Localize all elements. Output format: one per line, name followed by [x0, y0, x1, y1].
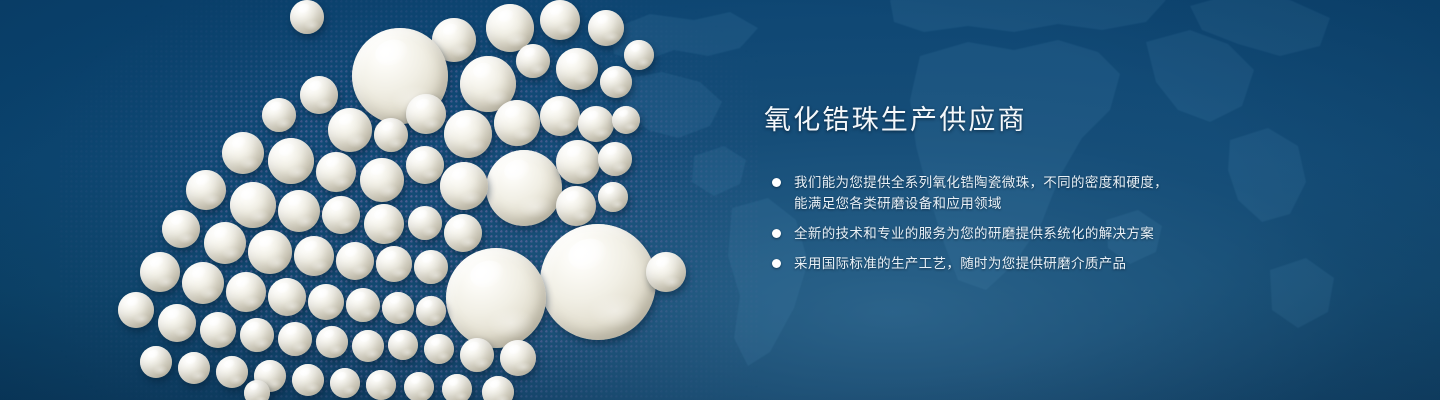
feature-bullet-list: 我们能为您提供全系列氧化锆陶瓷微珠，不同的密度和硬度， 能满足您各类研磨设备和应… — [764, 172, 1234, 274]
zirconia-bead-cluster-image — [0, 0, 720, 400]
list-item: 采用国际标准的生产工艺，随时为您提供研磨介质产品 — [764, 253, 1234, 274]
list-item: 全新的技术和专业的服务为您的研磨提供系统化的解决方案 — [764, 223, 1234, 244]
page-title: 氧化锆珠生产供应商 — [764, 104, 1234, 138]
bullet-text-line: 能满足您各类研磨设备和应用领域 — [794, 193, 1234, 214]
bullet-text-line: 我们能为您提供全系列氧化锆陶瓷微珠，不同的密度和硬度， — [794, 172, 1234, 193]
list-item: 我们能为您提供全系列氧化锆陶瓷微珠，不同的密度和硬度， 能满足您各类研磨设备和应… — [764, 172, 1234, 214]
bullet-text-line: 采用国际标准的生产工艺，随时为您提供研磨介质产品 — [794, 253, 1234, 274]
bullet-dot-icon — [772, 178, 781, 187]
hero-banner: 氧化锆珠生产供应商 我们能为您提供全系列氧化锆陶瓷微珠，不同的密度和硬度， 能满… — [0, 0, 1440, 400]
bullet-dot-icon — [772, 259, 781, 268]
banner-copy-block: 氧化锆珠生产供应商 我们能为您提供全系列氧化锆陶瓷微珠，不同的密度和硬度， 能满… — [764, 104, 1234, 274]
bullet-dot-icon — [772, 229, 781, 238]
bullet-text-line: 全新的技术和专业的服务为您的研磨提供系统化的解决方案 — [794, 223, 1234, 244]
